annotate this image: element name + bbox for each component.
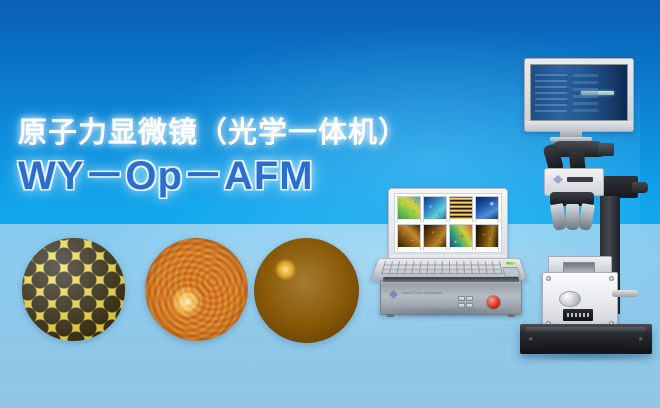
scan-thumbnail [449, 224, 473, 250]
headline-block: 原子力显微镜（光学一体机） WY－Op－AFM [18, 118, 438, 196]
adjustment-knob [559, 291, 581, 307]
cantilever-probe-view [581, 91, 614, 95]
scan-thumbnail [397, 196, 421, 222]
controller-button [466, 296, 473, 301]
objective-lens [566, 204, 579, 230]
thumbnail-caption [424, 219, 446, 222]
product-banner: 原子力显微镜（光学一体机） WY－Op－AFM [0, 0, 660, 408]
brand-logo-icon [553, 175, 563, 184]
keyboard-keys [381, 261, 503, 274]
page-title: 原子力显微镜（光学一体机） [18, 118, 438, 148]
screw-icon [639, 337, 643, 341]
head-side-port [598, 143, 614, 156]
scanner-side-rod [612, 290, 638, 297]
brand-logo-icon [389, 290, 398, 299]
afm-optical-microscope [500, 58, 660, 348]
laptop-and-controller: Atomic Force Microscope [372, 188, 518, 313]
sample-image-1 [22, 238, 125, 341]
objective-lens [550, 203, 567, 231]
screw-icon [546, 276, 551, 281]
sample-2-shading [145, 238, 248, 341]
afm-scanner-head [542, 272, 618, 330]
scan-thumbnail [475, 196, 499, 222]
thumbnail-caption [424, 247, 446, 250]
thumbnail-caption [450, 247, 472, 250]
scan-thumbnail [423, 196, 447, 222]
microscope-ground-shadow [510, 350, 660, 362]
controller-brand-text: Atomic Force Microscope [402, 291, 443, 295]
controller-button [458, 296, 465, 301]
thumbnail-caption [476, 219, 498, 222]
monitor-screen [530, 64, 628, 121]
thumbnail-caption [398, 219, 420, 222]
scan-thumbnail [423, 224, 447, 250]
binocular-head [538, 141, 612, 171]
illuminator-knob [632, 182, 648, 193]
arm-label [567, 177, 593, 182]
sample-1-shading [22, 238, 125, 341]
scan-thumbnail [475, 224, 499, 250]
objective-lens [578, 203, 595, 231]
thumbnail-caption [476, 247, 498, 250]
screw-icon [529, 337, 533, 341]
scanner-label [563, 309, 593, 321]
laptop-lid [388, 188, 508, 264]
screw-icon [609, 276, 614, 281]
laptop-screen [394, 193, 502, 253]
sample-image-3 [254, 238, 359, 343]
sample-3-shading [254, 238, 359, 343]
thumbnail-caption [450, 219, 472, 222]
controller-top-panel [383, 277, 519, 282]
scan-thumbnail [449, 196, 473, 222]
thumbnail-caption [398, 247, 420, 250]
sample-image-2 [145, 238, 248, 341]
scan-thumbnail [397, 224, 421, 250]
microscope-monitor [524, 58, 634, 132]
